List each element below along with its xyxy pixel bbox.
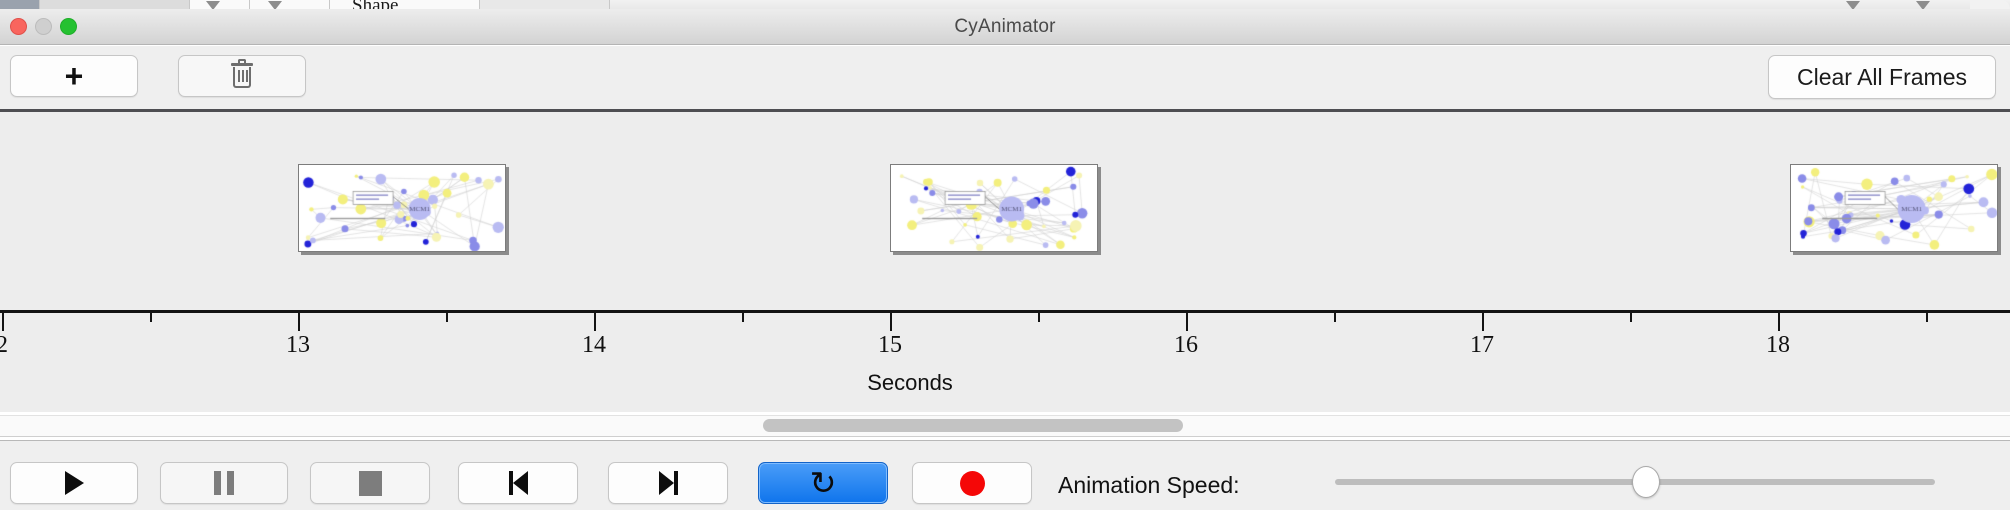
- axis-tick-label: 18: [1766, 332, 1790, 359]
- axis-tick: [1482, 313, 1484, 331]
- timeline-panel[interactable]: 2131415161718 Seconds: [0, 112, 2010, 412]
- timeline-frame[interactable]: [1790, 164, 1998, 252]
- timeline-frame[interactable]: [890, 164, 1098, 252]
- axis-tick: [594, 313, 596, 331]
- axis-tick-label: 16: [1174, 332, 1198, 359]
- axis-tick-label: 15: [878, 332, 902, 359]
- play-button[interactable]: [10, 462, 138, 504]
- axis-tick: [1186, 313, 1188, 331]
- axis-tick-label: 14: [582, 332, 606, 359]
- trash-icon: [231, 63, 253, 89]
- animation-speed-slider[interactable]: [1632, 466, 1660, 498]
- axis-tick-label: 17: [1470, 332, 1494, 359]
- maximize-button[interactable]: [60, 18, 77, 35]
- axis-minor-tick: [1334, 313, 1336, 322]
- play-icon: [65, 471, 84, 495]
- stop-button[interactable]: [310, 462, 430, 504]
- animation-speed-label: Animation Speed:: [1058, 472, 1240, 499]
- horizontal-scrollbar[interactable]: [763, 419, 1183, 432]
- axis-minor-tick: [742, 313, 744, 322]
- timeline-frame[interactable]: [298, 164, 506, 252]
- title-bar: CyAnimator: [0, 9, 2010, 45]
- stop-icon: [359, 471, 382, 496]
- loop-button[interactable]: ↻: [758, 462, 888, 504]
- clear-all-frames-button[interactable]: Clear All Frames: [1768, 55, 1996, 99]
- delete-frame-button[interactable]: [178, 55, 306, 97]
- axis-minor-tick: [446, 313, 448, 322]
- axis-title: Seconds: [0, 370, 2010, 396]
- axis-minor-tick: [150, 313, 152, 322]
- window-title: CyAnimator: [954, 16, 1055, 38]
- axis-minor-tick: [1038, 313, 1040, 322]
- clear-all-frames-label: Clear All Frames: [1797, 64, 1967, 91]
- record-icon: [960, 471, 985, 496]
- window-controls: [10, 18, 77, 35]
- axis-tick: [298, 313, 300, 331]
- close-button[interactable]: [10, 18, 27, 35]
- axis-tick-label: 2: [0, 332, 8, 359]
- axis-tick: [2, 313, 4, 331]
- axis-tick: [890, 313, 892, 331]
- loop-icon: ↻: [810, 467, 837, 499]
- axis-minor-tick: [1630, 313, 1632, 322]
- cyanimator-window: Shape CyAnimator + Clear All Frames: [0, 0, 2010, 510]
- skip-back-icon: [509, 471, 528, 495]
- add-frame-button[interactable]: +: [10, 55, 138, 97]
- skip-to-end-button[interactable]: [608, 462, 728, 504]
- pause-button[interactable]: [160, 462, 288, 504]
- skip-to-start-button[interactable]: [458, 462, 578, 504]
- plus-icon: +: [65, 65, 84, 87]
- axis-minor-tick: [1926, 313, 1928, 322]
- record-button[interactable]: [912, 462, 1032, 504]
- axis-tick-label: 13: [286, 332, 310, 359]
- timeline-axis: [0, 310, 2010, 313]
- pause-icon: [214, 471, 234, 495]
- skip-forward-icon: [659, 471, 678, 495]
- axis-tick: [1778, 313, 1780, 331]
- minimize-button[interactable]: [35, 18, 52, 35]
